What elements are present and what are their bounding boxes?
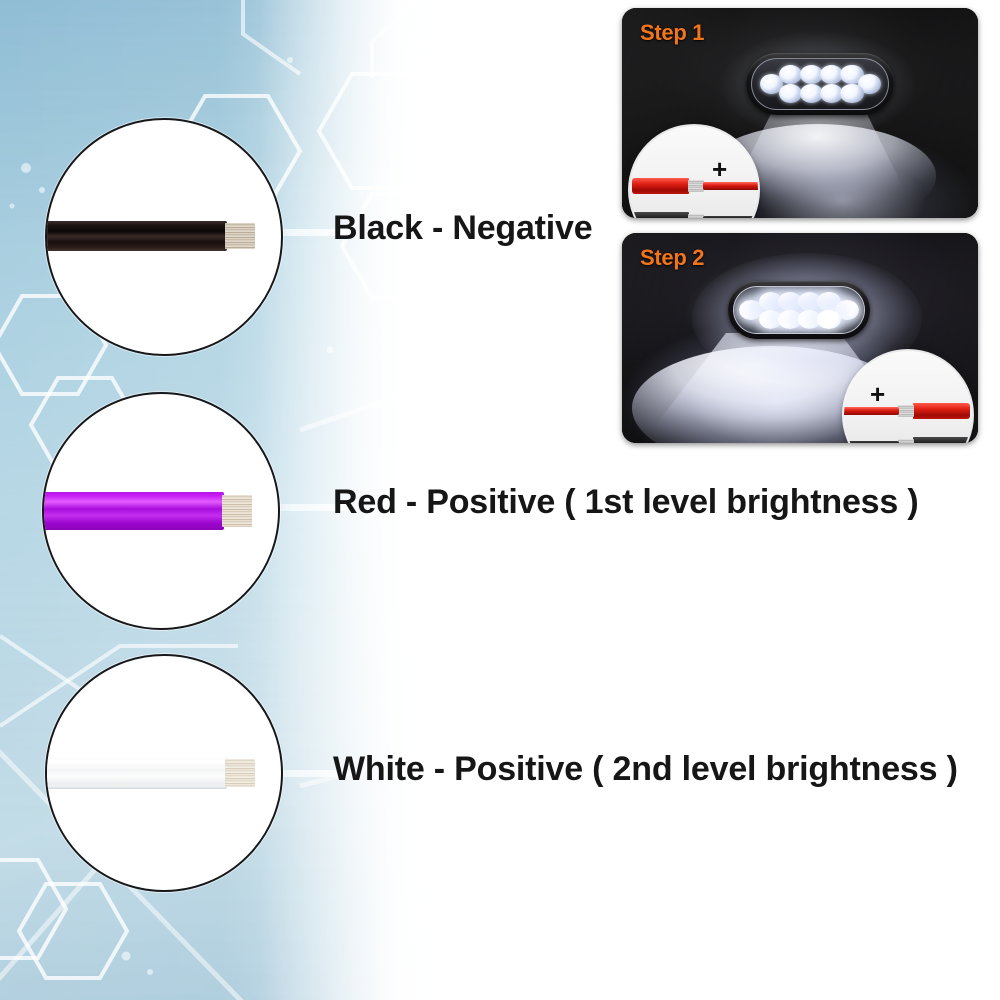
led — [817, 310, 840, 329]
led — [779, 65, 802, 84]
step-2-tag: Step 2 — [640, 245, 704, 271]
wire-black-icon — [45, 221, 255, 251]
step-2-led-array — [734, 287, 864, 333]
wire-white-icon — [45, 757, 255, 790]
label-white-positive: White - Positive ( 2nd level brightness … — [333, 750, 958, 789]
wire-red-icon — [42, 492, 252, 529]
led — [840, 84, 863, 103]
infographic-canvas: Black - Negative Red - Positive ( 1st le… — [0, 0, 1000, 1000]
step-1-black-clip — [632, 212, 756, 218]
step-1-led-array — [752, 59, 888, 109]
led — [779, 84, 802, 103]
step-1-tag: Step 1 — [640, 20, 704, 46]
step-2-black-clip — [846, 437, 970, 443]
callout-circle-red-wire — [42, 392, 280, 630]
step-1-led-lamp — [746, 53, 894, 115]
step-2-panel: + Step 2 — [622, 233, 978, 443]
label-black-negative: Black - Negative — [333, 209, 592, 248]
step-2-lamp-lens — [733, 286, 865, 334]
step-1-panel: + Step 1 — [622, 8, 978, 218]
step-1-lamp-lens — [751, 58, 889, 110]
step-1-wire-inset: + — [630, 126, 758, 218]
step-2-led-lamp — [728, 281, 870, 339]
step-2-wire-inset: + — [844, 351, 972, 443]
callout-circle-black-wire — [45, 118, 283, 356]
step-1-red-clip — [632, 178, 756, 194]
step-2-red-clip — [846, 403, 970, 419]
callout-circle-white-wire — [45, 654, 283, 892]
label-red-positive: Red - Positive ( 1st level brightness ) — [333, 483, 918, 522]
